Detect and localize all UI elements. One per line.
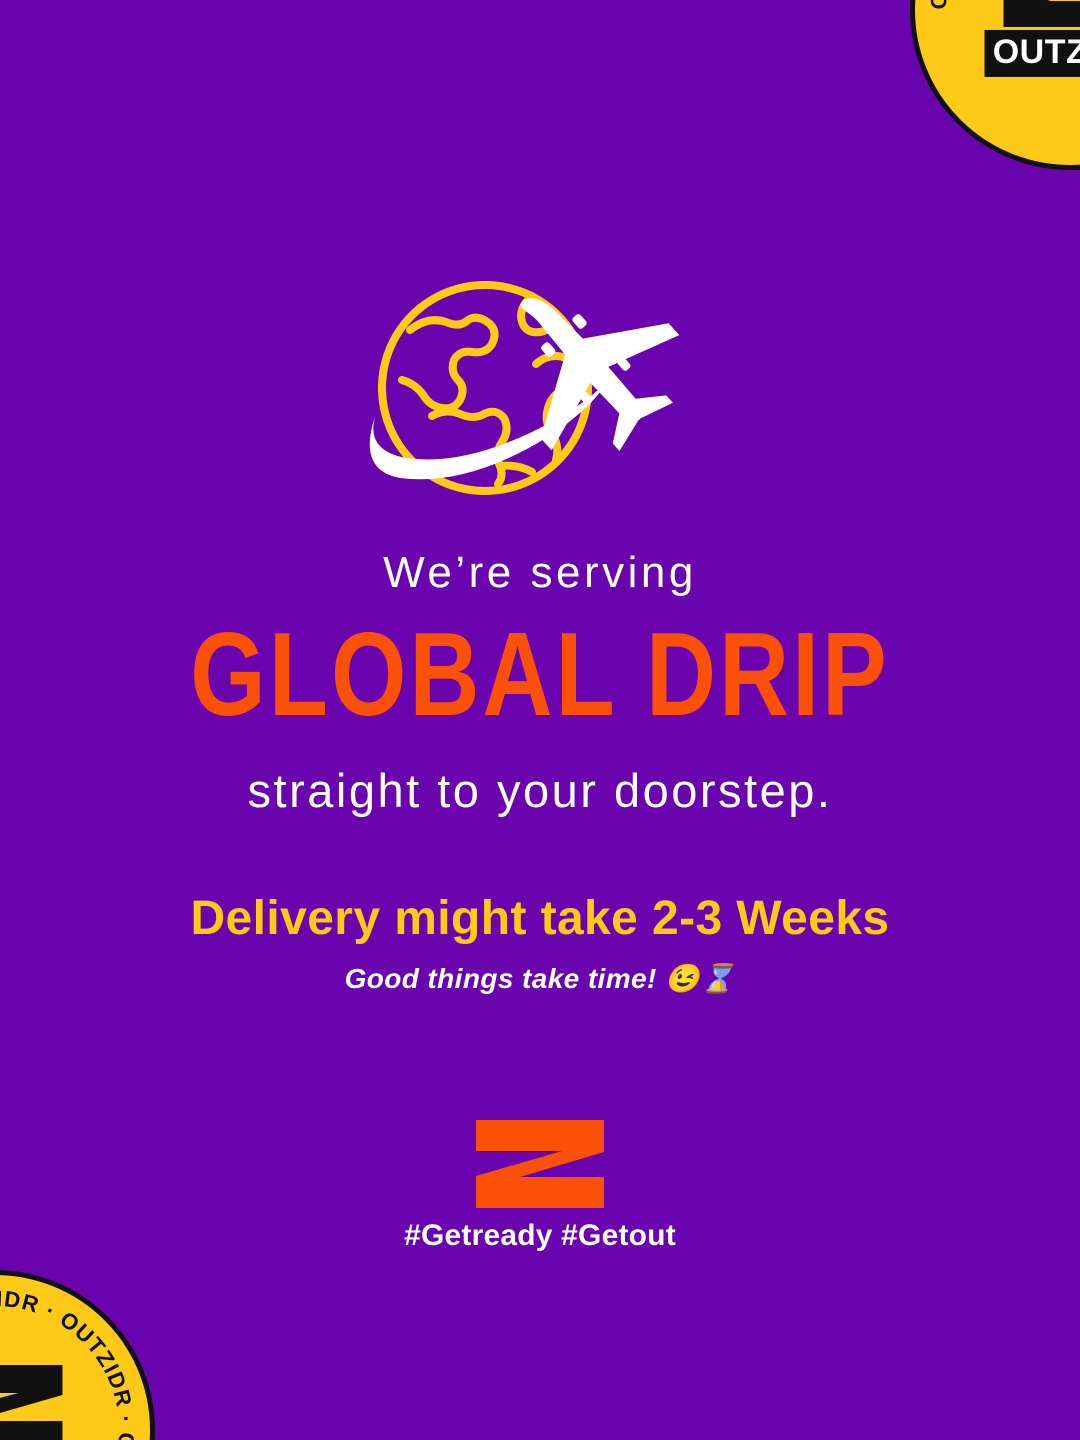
outzidr-sticker-bottom-left: OUTZIDR · OUTZIDR · OUTZIDR · OUTZIDR · … xyxy=(0,1270,155,1440)
reassurance-text: Good things take time! 😉⌛ xyxy=(0,962,1080,996)
badge-core-top-right: OUTZIDR xyxy=(983,0,1080,77)
promo-poster: OUTZIDR · OUTZIDR · OUTZIDR · OUTZIDR · … xyxy=(0,0,1080,1440)
poster-copy-block: We’re serving GLOBAL DRIP straight to yo… xyxy=(0,548,1080,995)
outzidr-z-logo-icon xyxy=(1001,0,1080,29)
badge-core-bottom-left: OUTZIDR xyxy=(0,1363,83,1440)
eyebrow-text: We’re serving xyxy=(0,548,1080,599)
badge-wordmark: OUTZIDR xyxy=(985,30,1080,77)
outzidr-z-logo-icon xyxy=(476,1120,604,1208)
globe-airplane-icon xyxy=(350,268,730,518)
hashtags-text: #Getready #Getout xyxy=(0,1219,1080,1253)
headline-text: GLOBAL DRIP xyxy=(0,615,1080,733)
outzidr-z-logo-icon xyxy=(0,1363,64,1440)
footer-brand-block: #Getready #Getout xyxy=(0,1120,1080,1253)
subhead-text: straight to your doorstep. xyxy=(0,764,1080,818)
delivery-note-text: Delivery might take 2-3 Weeks xyxy=(0,891,1080,946)
outzidr-sticker-top-right: OUTZIDR · OUTZIDR · OUTZIDR · OUTZIDR · … xyxy=(910,0,1080,170)
